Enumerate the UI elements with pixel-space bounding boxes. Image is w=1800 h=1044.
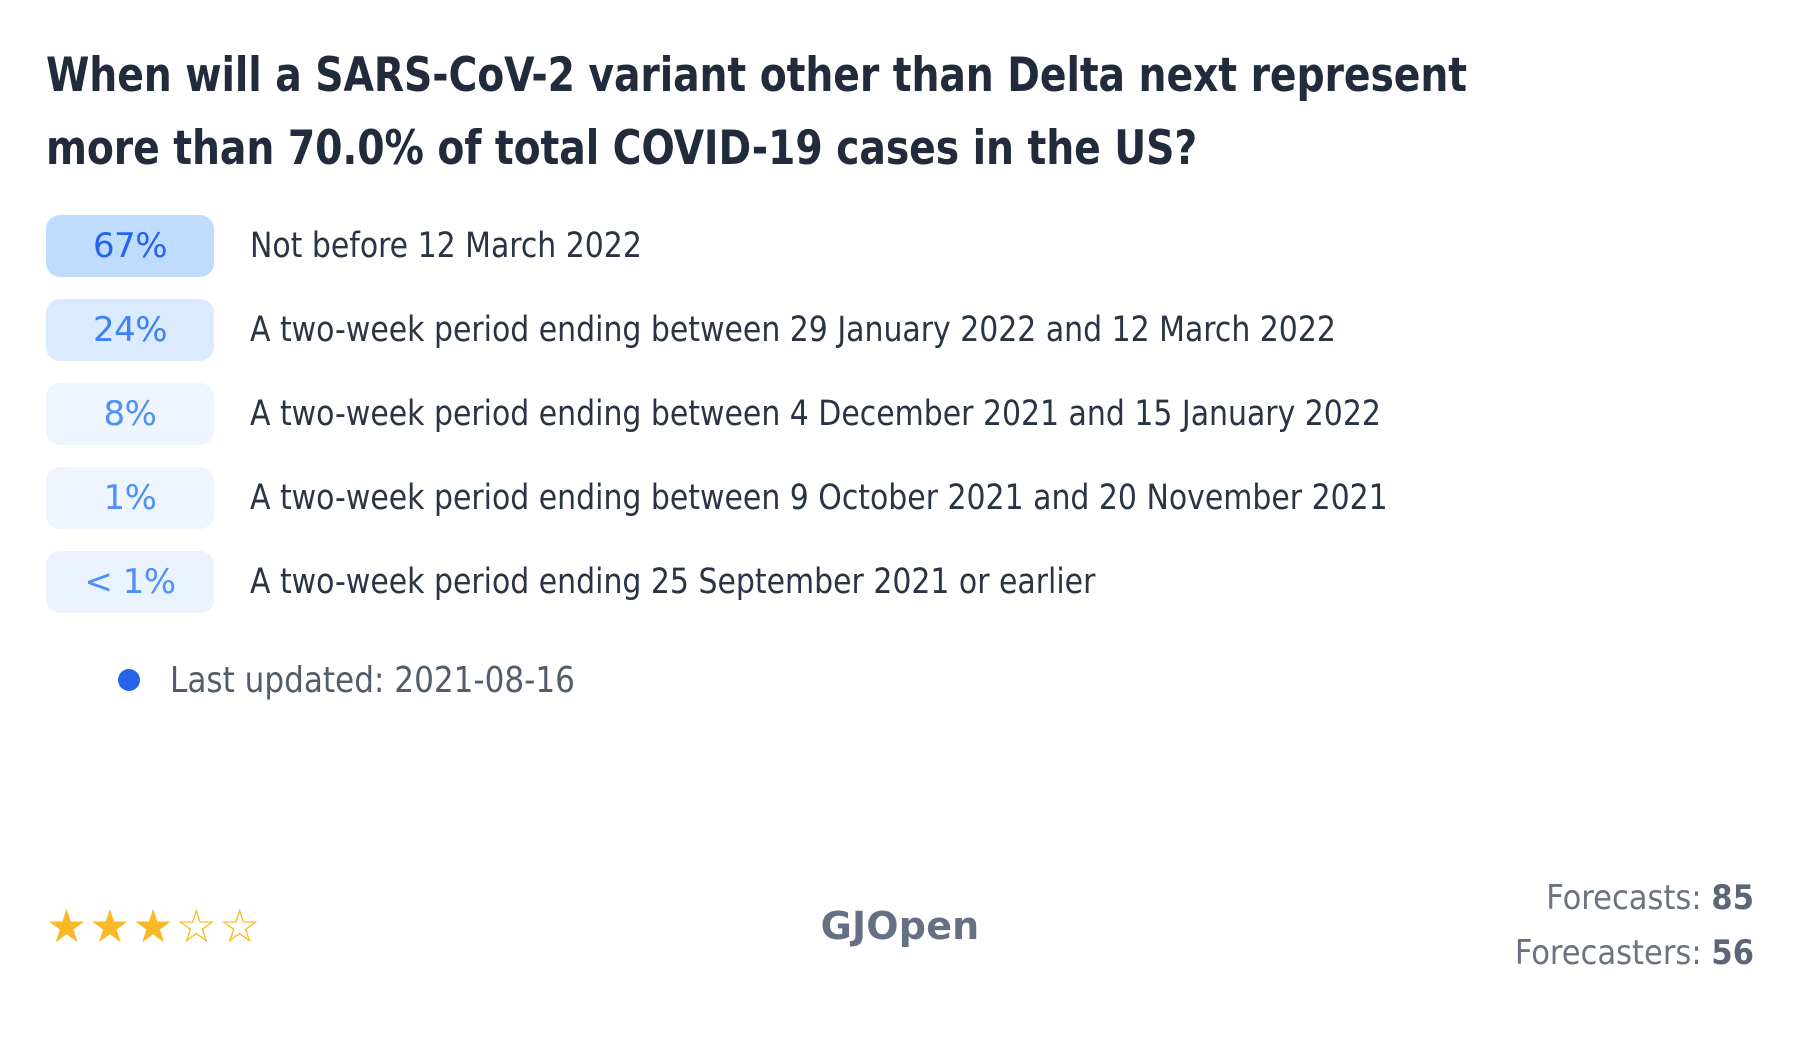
forecast-question-card: When will a SARS-CoV-2 variant other tha… (0, 0, 1800, 1044)
option-label: A two-week period ending between 29 Janu… (250, 310, 1336, 350)
option-row[interactable]: 67%Not before 12 March 2022 (46, 204, 1754, 288)
option-label: A two-week period ending 25 September 20… (250, 562, 1095, 602)
option-percent-badge: 67% (46, 215, 214, 277)
option-percent-badge: 1% (46, 467, 214, 529)
option-label: A two-week period ending between 4 Decem… (250, 394, 1381, 434)
star-rating[interactable]: ★★★☆☆ (46, 903, 346, 949)
bullet-dot-icon (118, 669, 140, 691)
option-percent-badge: < 1% (46, 551, 214, 613)
forecasters-label: Forecasters: (1515, 933, 1702, 973)
card-footer: ★★★☆☆ GJOpen Forecasts: 85 Forecasters: … (46, 871, 1754, 980)
option-label: Not before 12 March 2022 (250, 226, 642, 266)
forecasters-value: 56 (1711, 933, 1754, 973)
option-percent-badge: 8% (46, 383, 214, 445)
page-title: When will a SARS-CoV-2 variant other tha… (46, 40, 1571, 186)
forecasts-value: 85 (1711, 878, 1754, 918)
option-row[interactable]: 1%A two-week period ending between 9 Oct… (46, 456, 1754, 540)
star-filled-icon: ★ (46, 903, 87, 949)
option-row[interactable]: 8%A two-week period ending between 4 Dec… (46, 372, 1754, 456)
last-updated-row: Last updated: 2021-08-16 (118, 660, 1754, 701)
option-row[interactable]: 24%A two-week period ending between 29 J… (46, 288, 1754, 372)
forecasters-count: Forecasters: 56 (1454, 926, 1754, 980)
gjopen-logo: GJOpen (821, 904, 980, 948)
option-label: A two-week period ending between 9 Octob… (250, 478, 1388, 518)
star-filled-icon: ★ (89, 903, 130, 949)
counts-block: Forecasts: 85 Forecasters: 56 (1454, 871, 1754, 980)
option-row[interactable]: < 1%A two-week period ending 25 Septembe… (46, 540, 1754, 624)
star-filled-icon: ★ (133, 903, 174, 949)
forecasts-count: Forecasts: 85 (1454, 871, 1754, 925)
star-empty-icon: ☆ (219, 903, 260, 949)
star-empty-icon: ☆ (176, 903, 217, 949)
options-list: 67%Not before 12 March 202224%A two-week… (46, 204, 1754, 624)
option-percent-badge: 24% (46, 299, 214, 361)
last-updated-label: Last updated: 2021-08-16 (170, 660, 575, 701)
forecasts-label: Forecasts: (1546, 878, 1701, 918)
